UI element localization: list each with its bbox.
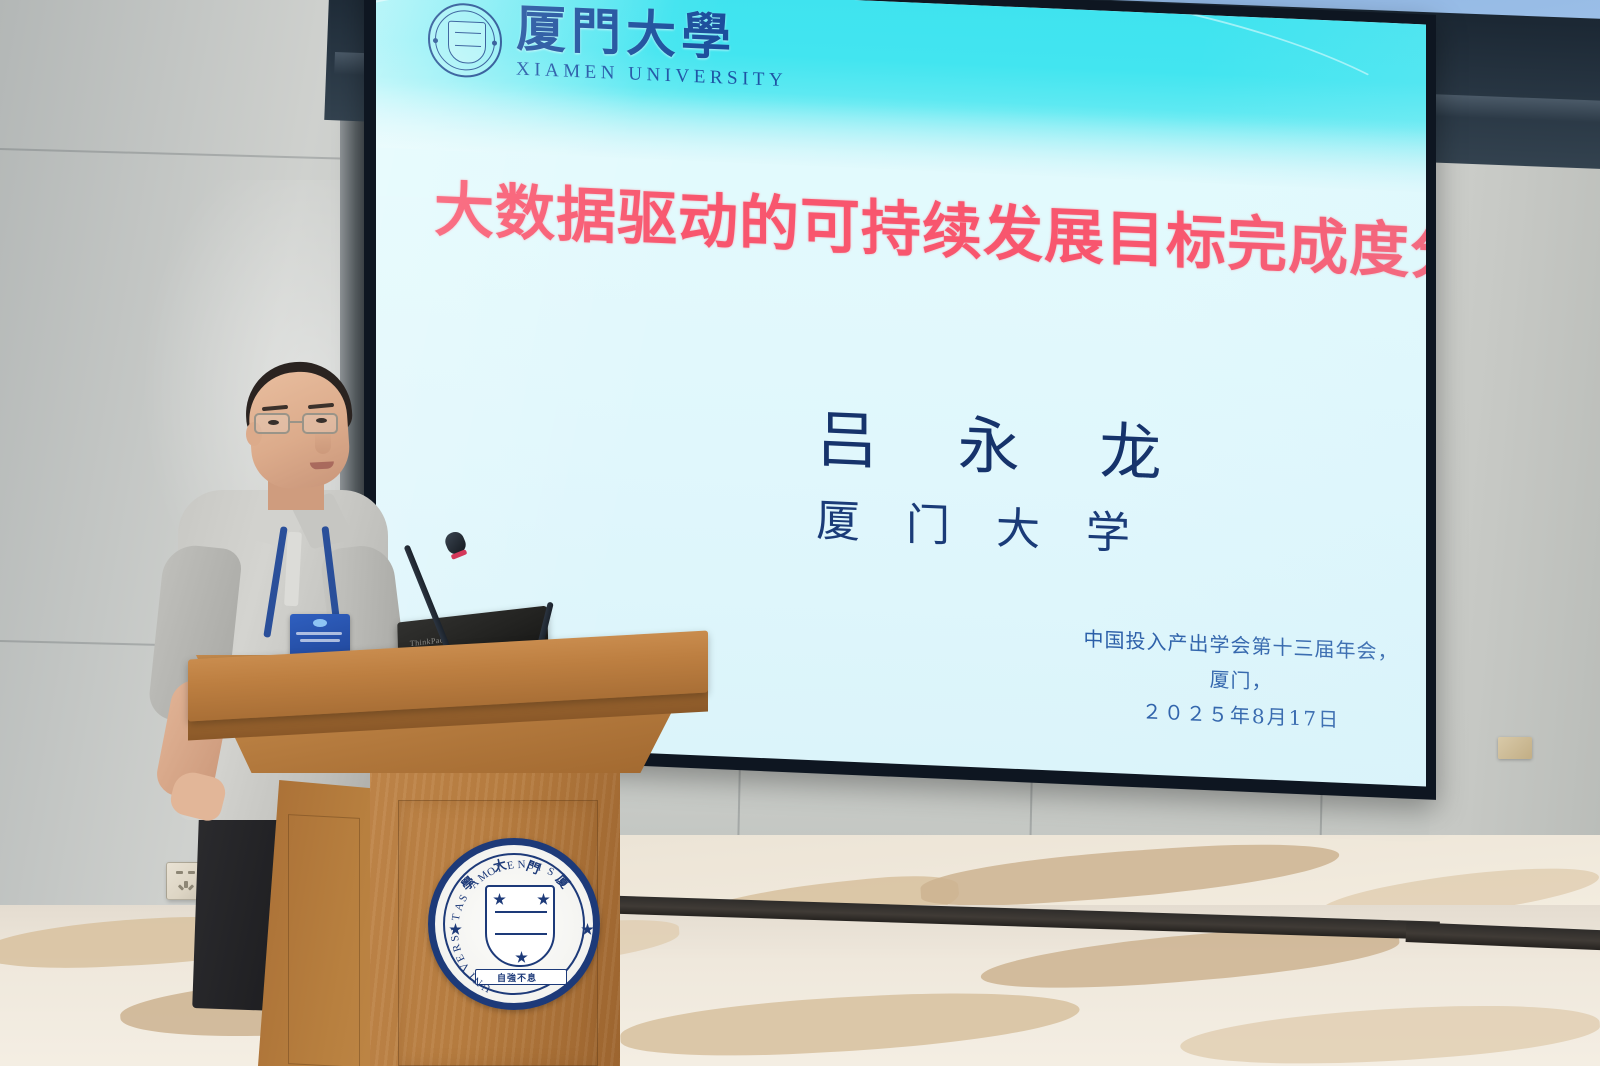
slide-author: 吕 永 龙 — [816, 388, 1191, 494]
badge-logo-icon — [313, 619, 327, 627]
slide-university-logo: 厦門大學 XIAMEN UNIVERSITY — [428, 0, 787, 92]
glasses-icon — [254, 413, 346, 435]
podium-university-emblem: 厦 門 大 學 自強不息 U N I V E R S I T A S A M O… — [428, 838, 600, 1010]
presentation-photo: 厦門大學 XIAMEN UNIVERSITY 大数据驱动的可持续发展目标完成度分… — [0, 0, 1600, 1066]
podium-side-panel — [288, 814, 360, 1066]
speaker-eye — [268, 420, 279, 425]
wall-outlet-right[interactable] — [1498, 737, 1532, 759]
speaker-nose — [315, 432, 331, 454]
slide-footer: 中国投入产出学会第十三届年会，厦门， ２０２５年8月17日 — [1076, 621, 1406, 740]
slide-affiliation: 厦 门 大 学 — [816, 484, 1146, 562]
emblem-latin-text: U N I V E R S I T A S A M O I E N S I S — [435, 845, 607, 1017]
university-seal-icon — [428, 1, 502, 78]
speaker-eye — [316, 418, 327, 423]
university-name-cn: 厦門大學 — [516, 4, 787, 66]
